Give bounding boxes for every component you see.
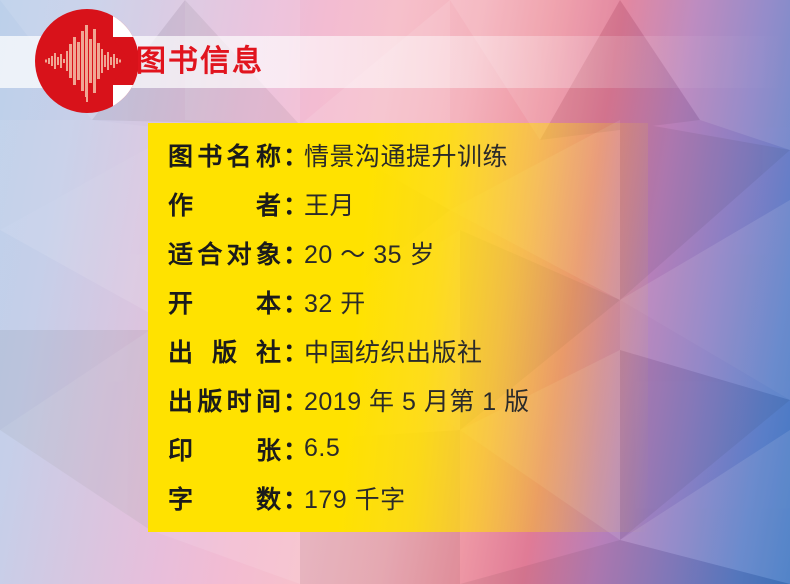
info-label-format: 开本 ：: [168, 284, 299, 320]
info-label-audience: 适合对象 ：: [168, 235, 299, 271]
list-item: 作者 ： 王月: [168, 179, 768, 228]
info-label-author: 作者 ：: [168, 186, 299, 222]
list-item: 出版时间 ： 2019 年 5 月第 1 版: [168, 375, 768, 424]
info-label-publish-date: 出版时间 ：: [168, 382, 299, 418]
info-value-word-count: 179 千字: [299, 480, 406, 516]
info-value-sheets: 6.5: [299, 434, 340, 463]
book-info-list: 图书名称 ： 情景沟通提升训练 作者 ： 王月 适合对象 ： 20 ～ 35 岁…: [168, 130, 768, 522]
info-value-format: 32 开: [299, 284, 366, 320]
info-label-publisher: 出版社 ：: [168, 333, 299, 369]
info-value-book-name: 情景沟通提升训练: [299, 137, 508, 173]
info-label-book-name: 图书名称 ：: [168, 137, 299, 173]
info-label-word-count: 字数 ：: [168, 480, 299, 516]
list-item: 适合对象 ： 20 ～ 35 岁: [168, 228, 768, 277]
page-title: 图书信息: [136, 38, 264, 86]
info-value-publisher: 中国纺织出版社: [299, 333, 483, 369]
list-item: 字数 ： 179 千字: [168, 473, 768, 522]
list-item: 图书名称 ： 情景沟通提升训练: [168, 130, 768, 179]
list-item: 开本 ： 32 开: [168, 277, 768, 326]
info-value-author: 王月: [299, 186, 355, 222]
info-value-publish-date: 2019 年 5 月第 1 版: [299, 382, 530, 418]
list-item: 印张 ： 6.5: [168, 424, 768, 473]
info-value-audience: 20 ～ 35 岁: [299, 235, 435, 271]
info-label-sheets: 印张 ：: [168, 431, 299, 467]
list-item: 出版社 ： 中国纺织出版社: [168, 326, 768, 375]
audio-waveform-arrow-icon: [35, 9, 139, 113]
book-info-banner: 图书信息 图书名称 ： 情景沟通提升训练 作者 ： 王月 适合对象 ： 20 ～…: [0, 0, 790, 584]
